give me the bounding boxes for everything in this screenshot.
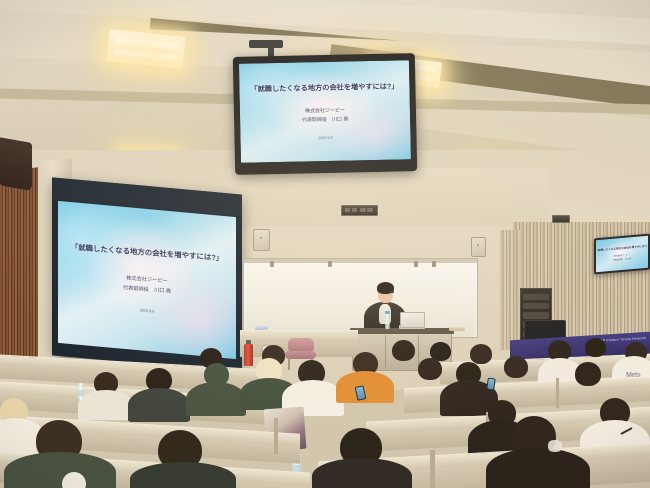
fluorescent-tube xyxy=(113,48,177,61)
audience-torso xyxy=(4,452,116,488)
desk-divider xyxy=(556,378,559,408)
fluorescent-tube xyxy=(115,37,179,50)
audience-head xyxy=(575,362,601,386)
monitor-screen: 「就職したくなる地方の会社を増やすには?」 株式会社ジーピー 代表取締役 川口 … xyxy=(239,60,411,163)
water-bottle[interactable] xyxy=(78,383,84,400)
audience-torso xyxy=(486,448,590,488)
rack-unit xyxy=(523,303,549,309)
window-curtain xyxy=(500,230,520,350)
audience-torso xyxy=(78,390,134,420)
monitor-screen: 「就職したくなる地方の会社を増やすには?」 株式会社ジーピー 代表取締役 川口 … xyxy=(596,236,648,273)
desk-divider xyxy=(430,450,435,488)
bottle-label xyxy=(78,390,84,396)
audience-torso xyxy=(186,382,246,416)
slide-title: 「就職したくなる地方の会社を増やすには?」 xyxy=(250,81,398,94)
display-segment xyxy=(367,208,373,213)
desk-divider xyxy=(274,418,278,454)
display-segment xyxy=(360,208,366,213)
wall-speaker xyxy=(471,237,486,257)
whiteboard-clip xyxy=(328,261,332,267)
laptop-screen[interactable] xyxy=(400,312,425,328)
rack-unit xyxy=(523,294,549,300)
document-stack xyxy=(449,327,465,331)
slide-title: 「就職したくなる地方の会社を増やすには?」 xyxy=(596,244,648,253)
folder xyxy=(255,326,268,330)
audience-head xyxy=(585,338,606,357)
audience-head xyxy=(418,358,442,380)
water-bottle[interactable] xyxy=(385,314,390,329)
audience-head xyxy=(504,356,528,378)
chair-backrest[interactable] xyxy=(288,338,314,351)
slide-content: 「就職したくなる地方の会社を増やすには?」 株式会社ジーピー 代表取締役 川口 … xyxy=(596,236,648,273)
whiteboard[interactable] xyxy=(243,258,478,338)
ceiling-mounted-monitor: 「就職したくなる地方の会社を増やすには?」 株式会社ジーピー 代表取締役 川口 … xyxy=(233,53,417,175)
audience-head xyxy=(392,340,415,361)
slide-date: 2023.9.8 xyxy=(318,136,332,140)
speaker-indicator xyxy=(260,237,263,239)
smartphone[interactable] xyxy=(486,378,496,391)
lecture-hall-photo: 「就職したくなる地方の会社を増やすには?」 株式会社ジーピー 代表取締役 川口 … xyxy=(0,0,650,488)
slide-content: 「就職したくなる地方の会社を増やすには?」 株式会社ジーピー 代表取締役 川口 … xyxy=(239,60,411,163)
speaker-indicator xyxy=(477,244,479,246)
wall-vent xyxy=(552,215,570,223)
slide-date: 2023.9.8 xyxy=(140,308,155,313)
display-segment xyxy=(352,208,358,213)
podium-panel-seam xyxy=(418,335,419,367)
slide-subtitle-2: 代表取締役 川口 眞 xyxy=(302,115,349,124)
eyeglasses xyxy=(389,291,394,293)
wall-speaker xyxy=(0,137,32,191)
ceiling-light-fixture xyxy=(107,29,186,69)
phone-screen xyxy=(487,379,494,390)
rack-unit xyxy=(523,312,549,318)
wall-speaker xyxy=(253,229,270,251)
audience-head xyxy=(470,344,492,364)
wall-monitor-right: 「就職したくなる地方の会社を増やすには?」 株式会社ジーピー 代表取締役 川口 … xyxy=(594,234,650,275)
fire-extinguisher xyxy=(244,344,253,366)
projection-screen: 「就職したくなる地方の会社を増やすには?」 株式会社ジーピー 代表取締役 川口 … xyxy=(58,201,236,359)
audience-torso xyxy=(312,458,412,488)
whiteboard-clip xyxy=(414,261,418,267)
slide-subtitle-2: 代表取締役 川口 眞 xyxy=(613,258,632,263)
podium-panel-seam xyxy=(385,335,386,367)
face-mask xyxy=(548,440,562,452)
slide-title: 「就職したくなる地方の会社を増やすには?」 xyxy=(71,242,223,264)
upper-wall-band xyxy=(228,168,548,226)
monitor-mount-bracket xyxy=(249,40,283,48)
chair-leg xyxy=(288,358,290,370)
wall-display-strip xyxy=(341,205,378,216)
whiteboard-clip xyxy=(270,261,274,267)
audience-torso xyxy=(128,388,190,422)
slide-content: 「就職したくなる地方の会社を増やすには?」 株式会社ジーピー 代表取締役 川口 … xyxy=(58,202,236,357)
whiteboard-rail xyxy=(244,259,477,263)
phone-screen xyxy=(356,386,365,399)
whiteboard-clip xyxy=(432,261,436,267)
bottle-cap xyxy=(385,311,390,314)
display-segment xyxy=(345,208,351,213)
audience-torso xyxy=(130,462,236,488)
